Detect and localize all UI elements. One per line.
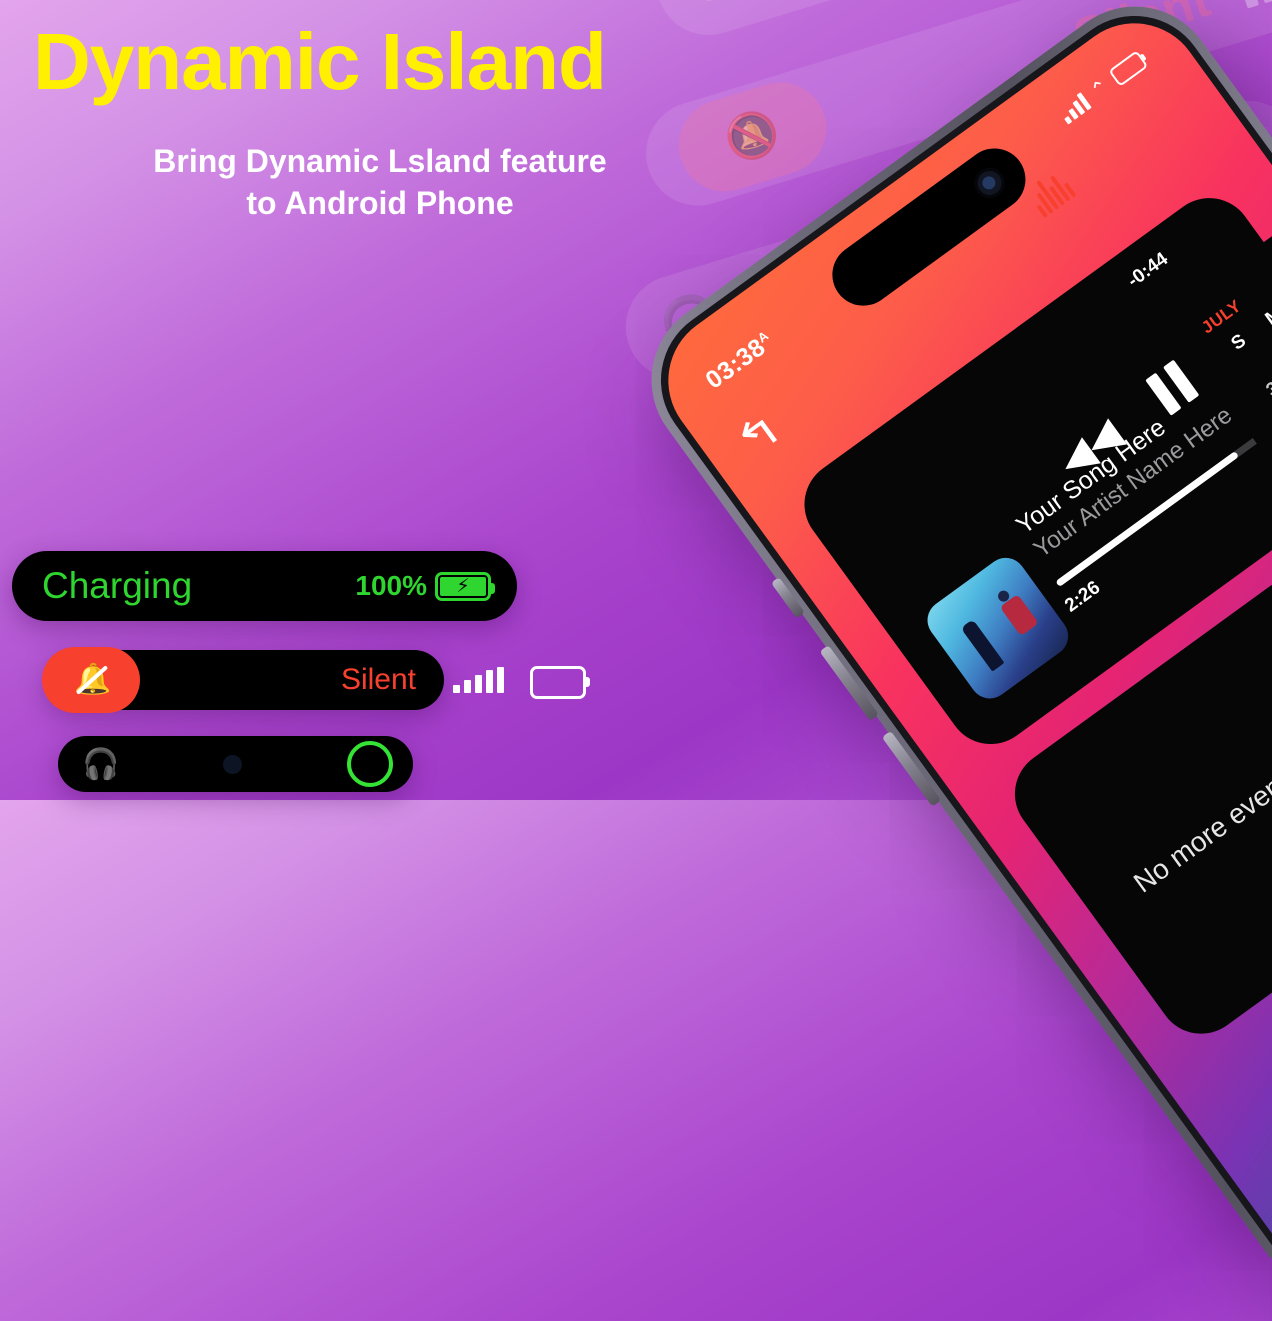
back-arrow-icon[interactable]: ↰ xyxy=(728,404,791,467)
battery-icon-outside xyxy=(530,666,586,699)
airpods-status-dot xyxy=(223,755,242,774)
battery-icon xyxy=(1108,50,1148,87)
bell-slash-icon[interactable]: 🔔 xyxy=(42,647,140,713)
wifi-icon: ⌃ xyxy=(1087,76,1112,102)
silent-label: Silent xyxy=(341,663,416,697)
remaining-time: -0:44 xyxy=(1124,249,1173,293)
dynamic-island-charging-pill[interactable]: Charging 100% ⚡ xyxy=(12,551,517,621)
airpods-icon: 🎧 xyxy=(82,747,117,782)
battery-charging-icon: ⚡ xyxy=(435,572,491,601)
dynamic-island-airpods-pill[interactable]: 🎧 xyxy=(58,736,413,792)
charging-percent: 100% xyxy=(355,570,427,602)
ghost-signal-bars-icon xyxy=(1235,0,1272,9)
dynamic-island-silent-pill[interactable]: 🔔 Silent xyxy=(44,650,444,710)
album-artwork xyxy=(920,550,1076,706)
signal-bars-icon-outside xyxy=(453,667,504,693)
statusbar-indicators: ⌃ xyxy=(1057,50,1149,124)
audio-waveform-icon xyxy=(1025,168,1077,218)
signal-bars-icon xyxy=(1057,92,1092,124)
front-camera-icon xyxy=(969,162,1011,204)
page-subtitle: Bring Dynamic Lsland feature to Android … xyxy=(0,140,760,224)
status-ring-icon xyxy=(347,741,393,787)
elapsed-time: 2:26 xyxy=(1061,577,1105,617)
pause-icon[interactable] xyxy=(1145,360,1199,416)
page-title: Dynamic Island xyxy=(33,22,606,102)
events-text: No more events today xyxy=(1128,713,1272,900)
subtitle-line-2: to Android Phone xyxy=(0,182,760,224)
ghost-charging-label: Charging xyxy=(683,0,914,16)
statusbar-time: 03:38A xyxy=(700,327,779,395)
subtitle-line-1: Bring Dynamic Lsland feature xyxy=(0,140,760,182)
charging-label: Charging xyxy=(42,565,192,607)
